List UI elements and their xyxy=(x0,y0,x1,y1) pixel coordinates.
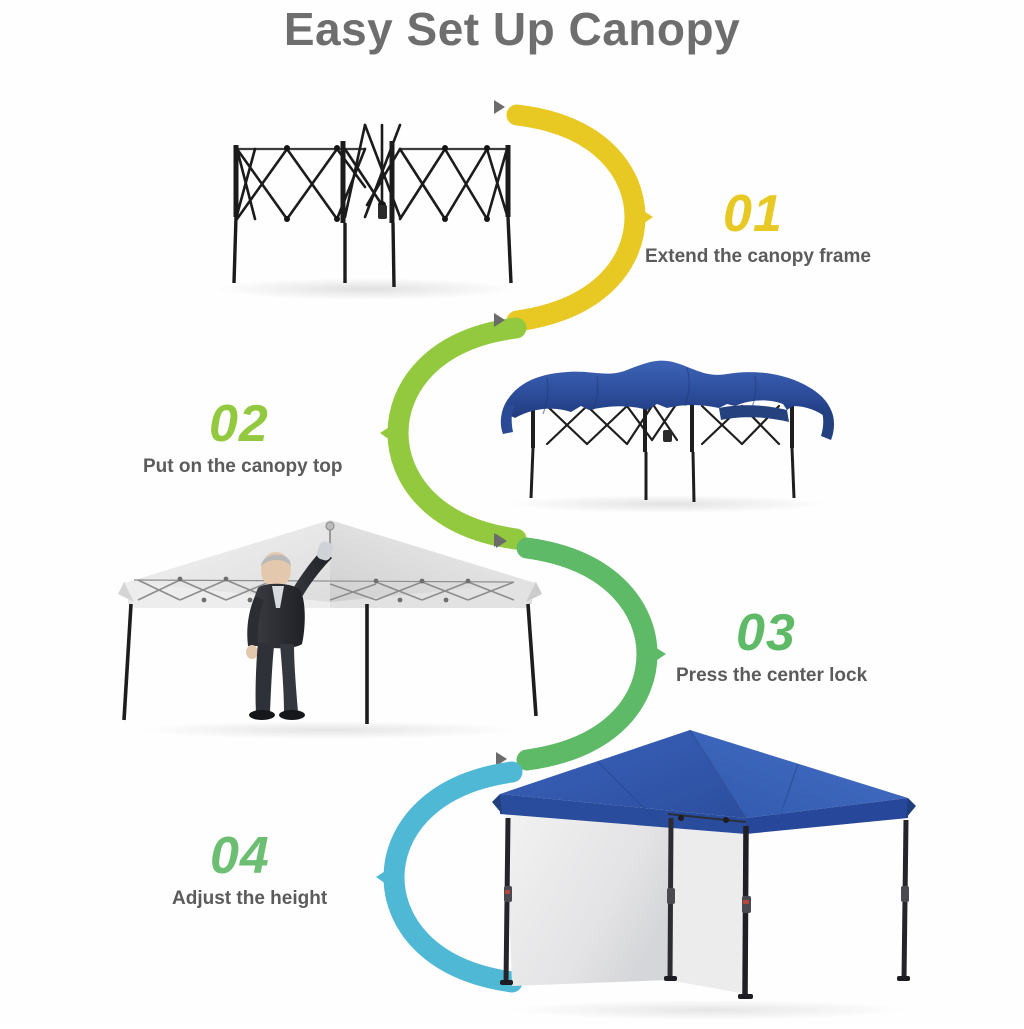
step-number-02: 02 xyxy=(209,398,343,450)
step-text-01: 01 Extend the canopy frame xyxy=(645,188,871,268)
step-text-04: 04 Adjust the height xyxy=(172,830,327,910)
arc-step-01 xyxy=(495,95,655,340)
illustration-step-02 xyxy=(487,348,837,513)
arc-step-01-svg xyxy=(495,95,655,340)
infographic-canvas: Easy Set Up Canopy xyxy=(0,0,1024,1024)
step-label-03: Press the center lock xyxy=(676,665,867,687)
illustration-step-01 xyxy=(195,105,525,300)
marker-triangle-03a xyxy=(496,534,507,548)
illustration-step-03 xyxy=(108,508,553,740)
page-title: Easy Set Up Canopy xyxy=(0,2,1024,56)
step-number-01: 01 xyxy=(723,188,871,240)
canopy-frame-collapsed-svg xyxy=(195,105,525,300)
step-label-02: Put on the canopy top xyxy=(143,456,343,478)
canopy-blue-top-draped-svg xyxy=(487,348,837,513)
step-number-03: 03 xyxy=(736,607,867,659)
step-label-01: Extend the canopy frame xyxy=(645,246,871,268)
marker-triangle-01a xyxy=(494,100,505,114)
step-label-04: Adjust the height xyxy=(172,888,327,910)
step-text-03: 03 Press the center lock xyxy=(676,607,867,687)
step-text-02: 02 Put on the canopy top xyxy=(143,398,343,478)
illustration-step-04 xyxy=(478,718,926,1024)
blue-canopy-sidewall-svg xyxy=(478,718,926,1024)
marker-triangle-02a xyxy=(494,313,505,327)
white-canopy-person-svg xyxy=(108,508,553,740)
step-number-04: 04 xyxy=(210,830,327,882)
